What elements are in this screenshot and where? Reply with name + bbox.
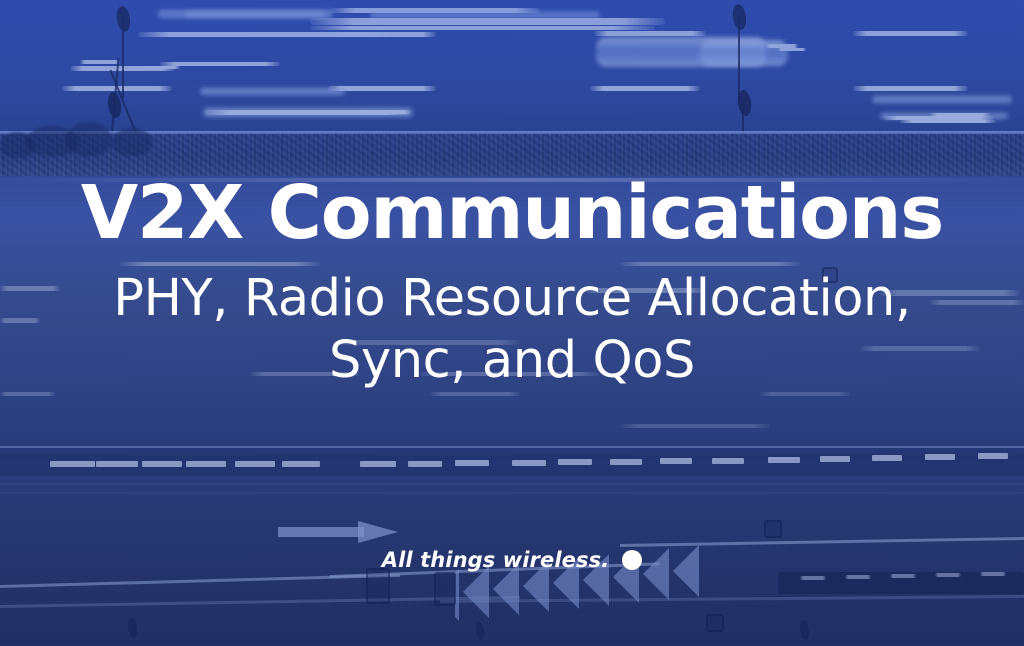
title-block: V2X Communications PHY, Radio Resource A…: [0, 176, 1024, 392]
title-slide: V2X Communications PHY, Radio Resource A…: [0, 0, 1024, 646]
subtitle-line-2: Sync, and QoS: [14, 330, 1010, 392]
tagline-block: All things wireless.: [0, 548, 1024, 572]
page-subtitle: PHY, Radio Resource Allocation, Sync, an…: [14, 268, 1010, 392]
subtitle-line-1: PHY, Radio Resource Allocation,: [14, 268, 1010, 330]
filled-circle-icon: [622, 550, 642, 570]
slide-content: V2X Communications PHY, Radio Resource A…: [0, 0, 1024, 646]
tagline-text: All things wireless.: [382, 548, 610, 572]
page-title: V2X Communications: [14, 176, 1010, 250]
